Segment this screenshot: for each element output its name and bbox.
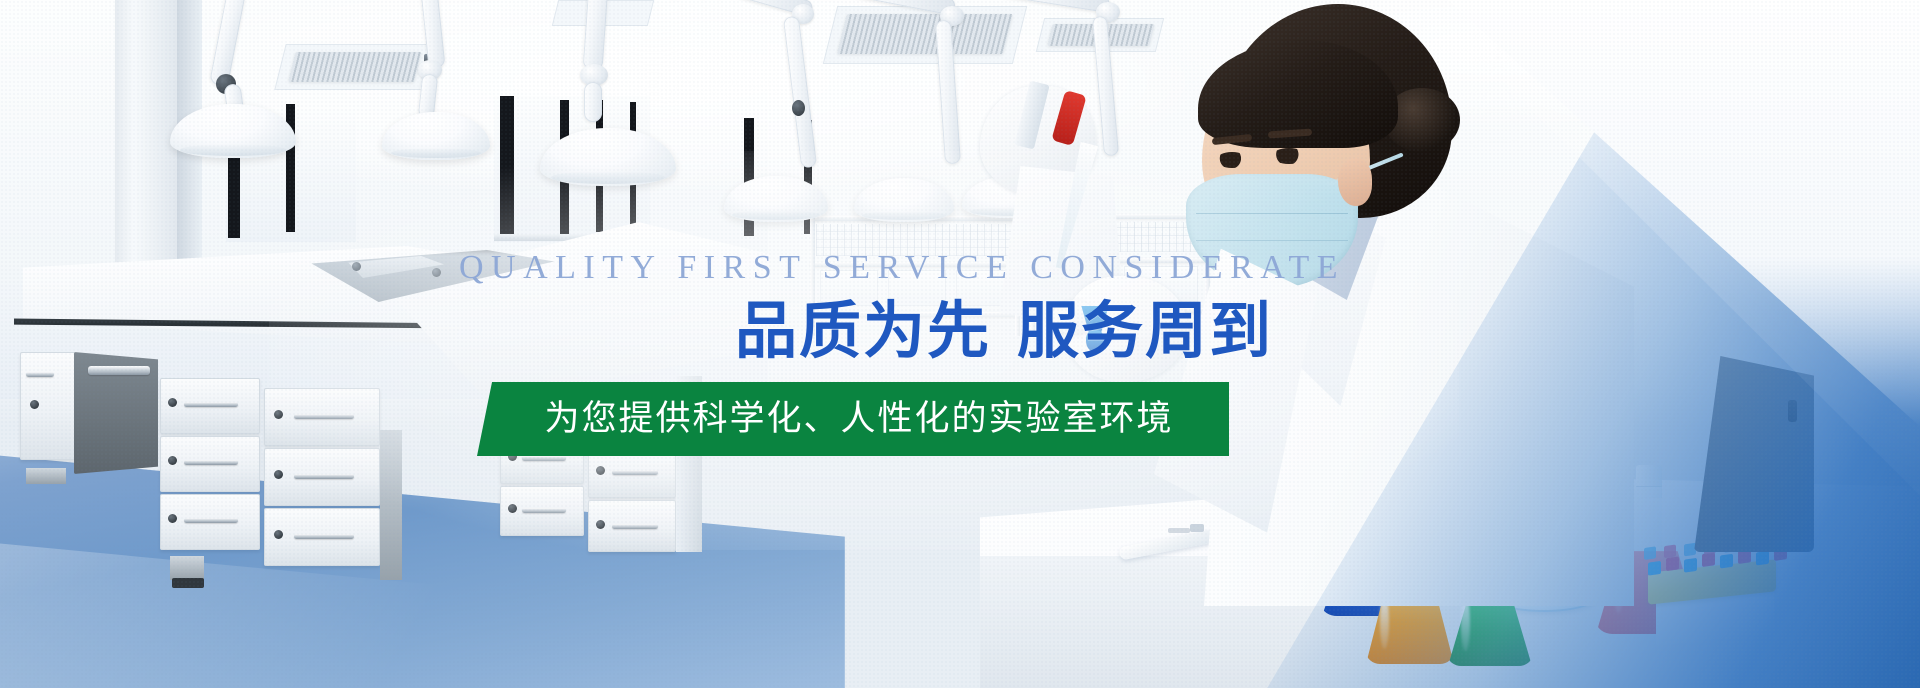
subtitle-green-band: 为您提供科学化、人性化的实验室环境: [477, 382, 1229, 456]
headline-part-1: 品质为先: [735, 294, 991, 367]
subtitle-chinese: 为您提供科学化、人性化的实验室环境: [532, 398, 1173, 440]
headline-chinese: 品质为先服务周到: [735, 296, 1273, 366]
hero-banner: QUALITY FIRST SERVICE CONSIDERATE 品质为先服务…: [0, 0, 1920, 688]
banner-copy-overlay: QUALITY FIRST SERVICE CONSIDERATE 品质为先服务…: [0, 0, 1920, 688]
tagline-english: QUALITY FIRST SERVICE CONSIDERATE: [459, 248, 1345, 288]
headline-part-2: 服务周到: [1017, 294, 1273, 367]
